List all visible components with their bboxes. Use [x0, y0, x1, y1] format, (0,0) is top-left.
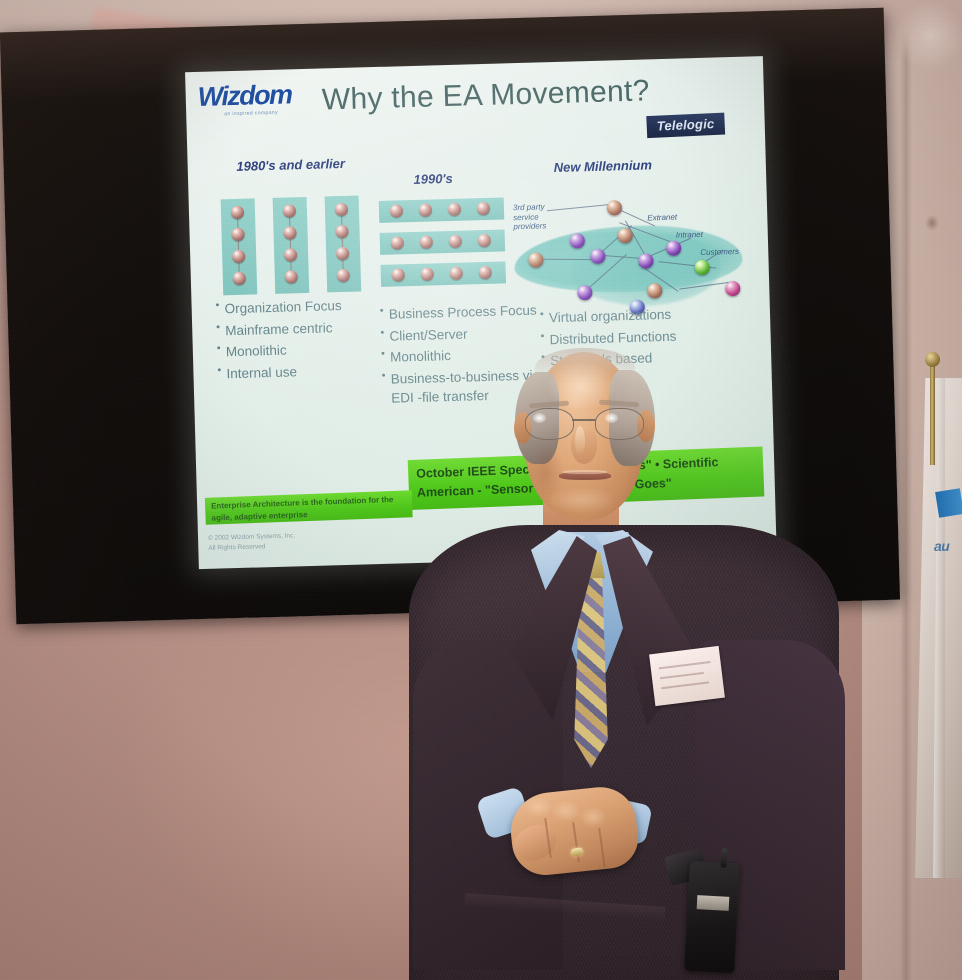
chin-highlight — [547, 486, 617, 514]
node-row — [381, 261, 507, 286]
slide-title: Why the EA Movement? — [321, 73, 702, 118]
flag-pole — [930, 360, 935, 465]
lens-glint — [605, 413, 618, 423]
badge-text-line — [660, 672, 704, 679]
wizdom-logo: Wizdom — [197, 79, 291, 113]
slide-footer-copyright: © 2002 Wizdom Systems, Inc. All Rights R… — [208, 531, 296, 554]
bullet-item: Business Process Focus — [380, 300, 545, 324]
knuckle — [523, 796, 553, 818]
diagram-1990s — [379, 197, 511, 291]
node-column — [221, 198, 258, 295]
knuckle — [551, 800, 581, 822]
ceiling-highlight — [895, 0, 962, 70]
flag-finial-icon — [925, 352, 940, 367]
bullet-item: Internal use — [217, 360, 367, 384]
telelogic-badge: Telelogic — [646, 113, 725, 139]
network-label-3rd-party: 3rd party service providers — [513, 202, 562, 232]
diagram-1980s — [217, 195, 370, 297]
wall-scuff — [925, 215, 939, 231]
network-label-customers: Customers — [700, 247, 739, 258]
green-banner-sub-text: Enterprise Architecture is the foundatio… — [211, 493, 408, 523]
pocket-device — [684, 861, 740, 973]
photo-canvas: au Wizdom an inspired company Why the EA… — [0, 0, 962, 980]
nose-highlight — [575, 426, 585, 456]
badge-text-line — [661, 681, 709, 689]
node-column — [325, 196, 362, 293]
diagram-new-millennium: 3rd party service providers Extranet Int… — [506, 174, 760, 311]
column-heading-new-millennium: New Millennium — [518, 156, 688, 177]
bullet-item: Mainframe centric — [216, 317, 366, 341]
presenter — [395, 340, 865, 980]
green-banner-sub: Enterprise Architecture is the foundatio… — [205, 490, 413, 525]
bullet-item: Organization Focus — [215, 295, 365, 319]
node-row — [379, 197, 505, 222]
wall-corner-shadow — [900, 0, 912, 980]
pager-screen — [697, 895, 730, 911]
name-badge — [649, 646, 725, 706]
flag-text: au — [934, 538, 949, 554]
bullet-item: Virtual organizations — [540, 303, 740, 328]
lens-right — [595, 408, 644, 440]
rights-line: All Rights Reserved — [208, 542, 295, 555]
badge-text-line — [659, 661, 711, 669]
node-row — [380, 229, 506, 254]
mouth-highlight — [563, 470, 607, 474]
column-heading-1990s: 1990's — [388, 170, 478, 189]
knuckle — [579, 806, 607, 828]
network-label-intranet: Intranet — [676, 230, 703, 240]
node-column — [273, 197, 310, 294]
network-label-extranet: Extranet — [647, 213, 677, 223]
lens-left — [525, 408, 574, 440]
glasses-bridge — [572, 419, 596, 421]
flag-stripe — [935, 488, 962, 518]
bullet-item: Monolithic — [217, 338, 367, 362]
column-heading-1980s: 1980's and earlier — [225, 156, 355, 176]
wizdom-logo-tagline: an inspired company — [224, 110, 278, 117]
bullets-1980s: Organization Focus Mainframe centric Mon… — [215, 295, 367, 385]
lens-glint — [533, 413, 546, 423]
